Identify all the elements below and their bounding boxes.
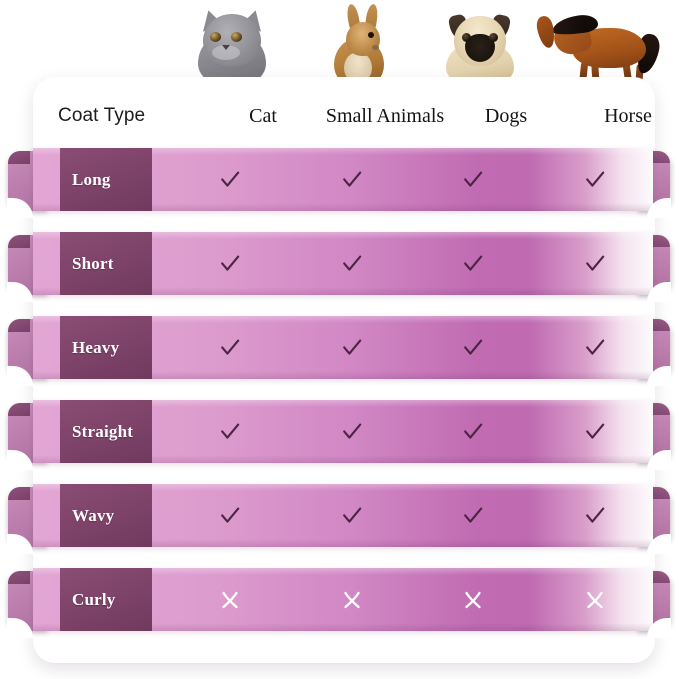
table-row: Long: [8, 148, 670, 211]
cross-icon: [582, 587, 608, 613]
row-label-chip: Short: [60, 232, 152, 295]
row-label-chip: Wavy: [60, 484, 152, 547]
row-label: Heavy: [60, 338, 119, 358]
check-icon: [339, 251, 365, 277]
check-icon: [217, 419, 243, 445]
check-icon: [460, 251, 486, 277]
check-icon: [339, 503, 365, 529]
ribbon-band: Long: [33, 148, 653, 211]
check-icon: [339, 419, 365, 445]
ribbon-fold-left: [8, 235, 30, 248]
table-row: Short: [8, 232, 670, 295]
row-label: Straight: [60, 422, 133, 442]
check-icon: [339, 335, 365, 361]
ribbon-band: Curly: [33, 568, 653, 631]
ribbon-fold-right: [650, 235, 670, 247]
table-row: Heavy: [8, 316, 670, 379]
ribbon-fold-right: [650, 403, 670, 415]
cross-icon: [217, 587, 243, 613]
check-icon: [217, 335, 243, 361]
ribbon-band: Straight: [33, 400, 653, 463]
ribbon-fold-left: [8, 319, 30, 332]
ribbon-fold-right: [650, 571, 670, 583]
ribbon-fold-right: [650, 319, 670, 331]
table-body: LongShortHeavyStraightWavyCurly: [0, 0, 679, 679]
row-label: Curly: [60, 590, 116, 610]
row-label: Wavy: [60, 506, 114, 526]
check-icon: [217, 503, 243, 529]
check-icon: [460, 419, 486, 445]
ribbon-fold-right: [650, 487, 670, 499]
ribbon-fold-left: [8, 151, 30, 164]
check-icon: [339, 167, 365, 193]
row-label: Short: [60, 254, 114, 274]
check-icon: [217, 251, 243, 277]
check-icon: [460, 167, 486, 193]
row-label-chip: Straight: [60, 400, 152, 463]
row-label-chip: Heavy: [60, 316, 152, 379]
check-icon: [460, 503, 486, 529]
check-icon: [582, 503, 608, 529]
cross-icon: [460, 587, 486, 613]
ribbon-band: Heavy: [33, 316, 653, 379]
compatibility-table-graphic: Coat Type Cat Small Animals Dogs Horse L…: [0, 0, 679, 679]
check-icon: [460, 335, 486, 361]
check-icon: [217, 167, 243, 193]
ribbon-band: Short: [33, 232, 653, 295]
ribbon-fold-left: [8, 487, 30, 500]
row-label-chip: Curly: [60, 568, 152, 631]
check-icon: [582, 167, 608, 193]
ribbon-fold-left: [8, 403, 30, 416]
ribbon-band: Wavy: [33, 484, 653, 547]
row-label: Long: [60, 170, 111, 190]
check-icon: [582, 419, 608, 445]
cross-icon: [339, 587, 365, 613]
table-row: Wavy: [8, 484, 670, 547]
row-label-chip: Long: [60, 148, 152, 211]
ribbon-fold-right: [650, 151, 670, 163]
check-icon: [582, 335, 608, 361]
table-row: Curly: [8, 568, 670, 631]
ribbon-fold-left: [8, 571, 30, 584]
check-icon: [582, 251, 608, 277]
table-row: Straight: [8, 400, 670, 463]
